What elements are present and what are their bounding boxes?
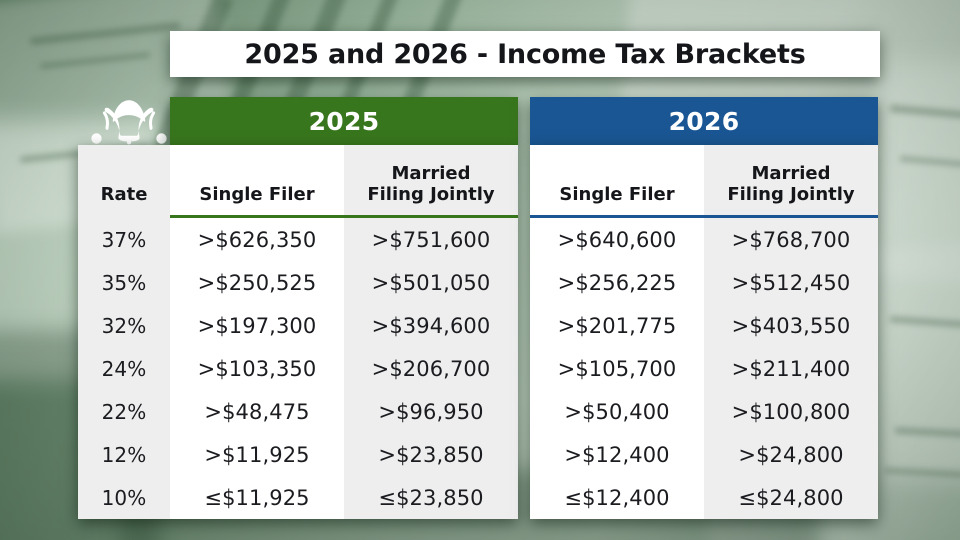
page-title: 2025 and 2026 - Income Tax Brackets (170, 31, 880, 77)
tax-table-2026: Single Filer >$640,600 >$256,225 >$201,7… (530, 145, 878, 519)
table-cell-rate: 35% (78, 261, 170, 304)
table-cell-rate: 32% (78, 304, 170, 347)
column-header-single-filer-2026: Single Filer (530, 145, 704, 215)
table-cell-2025-single: >$250,525 (170, 261, 344, 304)
table-cell-2026-mfj: ≤$24,800 (704, 476, 878, 519)
column-2025-single-filer: Single Filer >$626,350 >$250,525 >$197,3… (170, 145, 344, 519)
column-header-rate: Rate (78, 145, 170, 215)
table-cell-2026-mfj: >$100,800 (704, 390, 878, 433)
table-cell-rate: 10% (78, 476, 170, 519)
table-cell-2025-mfj: >$23,850 (344, 433, 518, 476)
column-header-mfj-2026: Married Filing Jointly (704, 145, 878, 215)
table-cell-2025-single: >$11,925 (170, 433, 344, 476)
table-cell-2026-single: >$640,600 (530, 218, 704, 261)
page-title-text: 2025 and 2026 - Income Tax Brackets (244, 39, 805, 70)
table-cell-2026-mfj: >$403,550 (704, 304, 878, 347)
table-cell-2025-single: >$103,350 (170, 347, 344, 390)
column-header-mfj-line2: Filing Jointly (367, 185, 494, 206)
table-cell-2026-mfj: >$24,800 (704, 433, 878, 476)
table-cell-2026-single: >$50,400 (530, 390, 704, 433)
table-cell-2025-mfj: >$96,950 (344, 390, 518, 433)
table-cell-rate: 22% (78, 390, 170, 433)
column-header-single-filer-2025: Single Filer (170, 145, 344, 215)
table-cell-2025-mfj: >$751,600 (344, 218, 518, 261)
column-header-mfj-2025: Married Filing Jointly (344, 145, 518, 215)
motley-fool-jester-cap-icon (88, 97, 170, 147)
year-header-2025: 2025 (170, 97, 518, 145)
table-cell-2026-single: ≤$12,400 (530, 476, 704, 519)
column-2025-married-filing-jointly: Married Filing Jointly >$751,600 >$501,0… (344, 145, 518, 519)
tax-table-2025: Rate 37% 35% 32% 24% 22% 12% 10% Single … (78, 145, 518, 519)
table-cell-2025-mfj: >$206,700 (344, 347, 518, 390)
table-cell-2026-single: >$105,700 (530, 347, 704, 390)
column-header-mfj-line1: Married (727, 164, 854, 185)
table-cell-2026-single: >$12,400 (530, 433, 704, 476)
year-header-2025-label: 2025 (309, 107, 380, 136)
table-cell-2025-mfj: >$394,600 (344, 304, 518, 347)
table-cell-2026-single: >$256,225 (530, 261, 704, 304)
table-cell-2025-mfj: ≤$23,850 (344, 476, 518, 519)
table-cell-2026-mfj: >$768,700 (704, 218, 878, 261)
table-cell-2025-mfj: >$501,050 (344, 261, 518, 304)
table-cell-2025-single: >$48,475 (170, 390, 344, 433)
year-header-2026: 2026 (530, 97, 878, 145)
table-cell-2026-mfj: >$512,450 (704, 261, 878, 304)
table-cell-rate: 12% (78, 433, 170, 476)
table-cell-2025-single: ≤$11,925 (170, 476, 344, 519)
table-cell-2025-single: >$197,300 (170, 304, 344, 347)
column-header-mfj-line1: Married (367, 164, 494, 185)
column-rate: Rate 37% 35% 32% 24% 22% 12% 10% (78, 145, 170, 519)
column-2026-single-filer: Single Filer >$640,600 >$256,225 >$201,7… (530, 145, 704, 519)
table-cell-rate: 37% (78, 218, 170, 261)
table-cell-2026-single: >$201,775 (530, 304, 704, 347)
table-cell-rate: 24% (78, 347, 170, 390)
table-cell-2025-single: >$626,350 (170, 218, 344, 261)
year-header-2026-label: 2026 (669, 107, 740, 136)
column-2026-married-filing-jointly: Married Filing Jointly >$768,700 >$512,4… (704, 145, 878, 519)
table-cell-2026-mfj: >$211,400 (704, 347, 878, 390)
column-header-mfj-line2: Filing Jointly (727, 185, 854, 206)
